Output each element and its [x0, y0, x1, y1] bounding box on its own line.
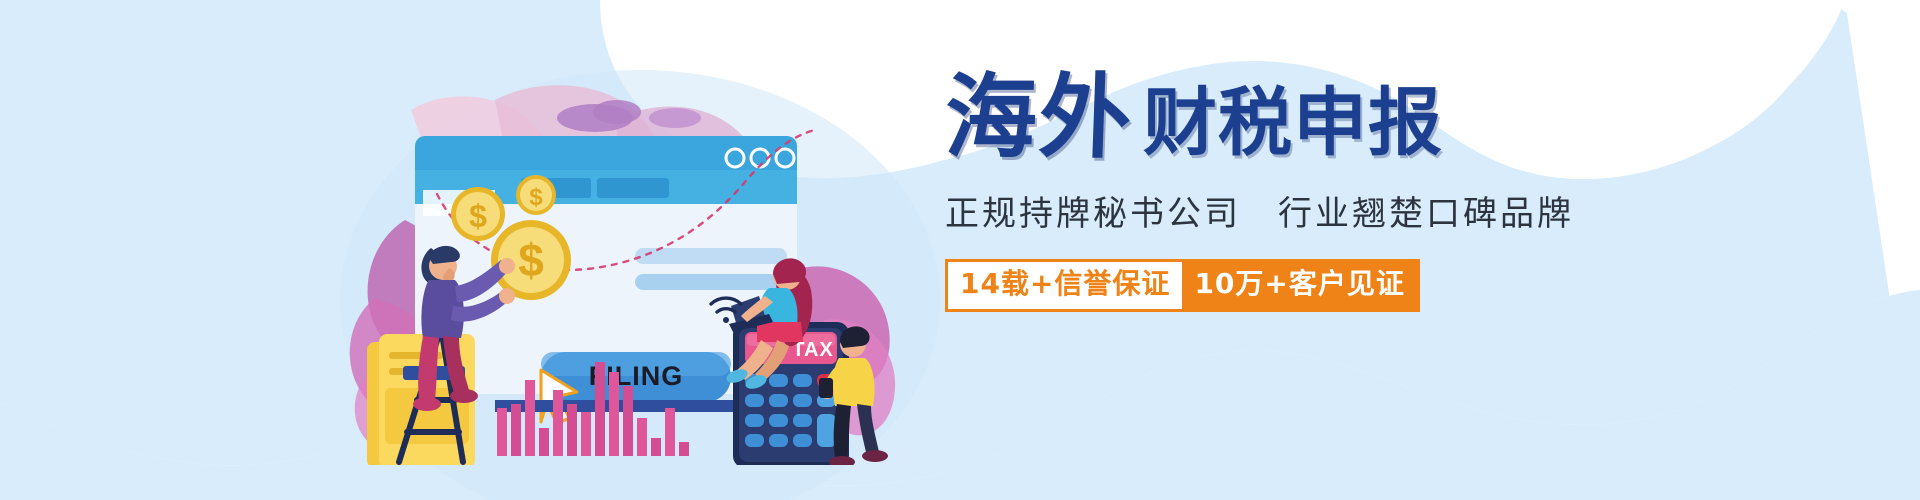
badge-experience: 14载+信誉保证 — [945, 259, 1182, 312]
badge-customers: 10万+客户见证 — [1182, 259, 1419, 312]
svg-text:$: $ — [529, 184, 543, 211]
svg-text:$: $ — [518, 234, 544, 286]
headline-secondary: 财税申报 — [1143, 86, 1443, 160]
banner-content: 海外 财税申报 正规持牌秘书公司 行业翘楚口碑品牌 14载+信誉保证 10万+客… — [945, 72, 1765, 372]
coin-medium: $ — [451, 187, 505, 241]
overseas-tax-filing-illustration: $ $ $ — [345, 70, 905, 465]
subtitle: 正规持牌秘书公司 行业翘楚口碑品牌 — [945, 186, 1765, 235]
coin-small: $ — [516, 175, 556, 215]
svg-text:$: $ — [469, 198, 487, 234]
headline-primary: 海外 — [943, 72, 1134, 164]
headline: 海外 财税申报 — [945, 72, 1765, 164]
badge-group: 14载+信誉保证 10万+客户见证 — [945, 259, 1420, 312]
promo-banner: $ $ $ — [0, 0, 1920, 500]
